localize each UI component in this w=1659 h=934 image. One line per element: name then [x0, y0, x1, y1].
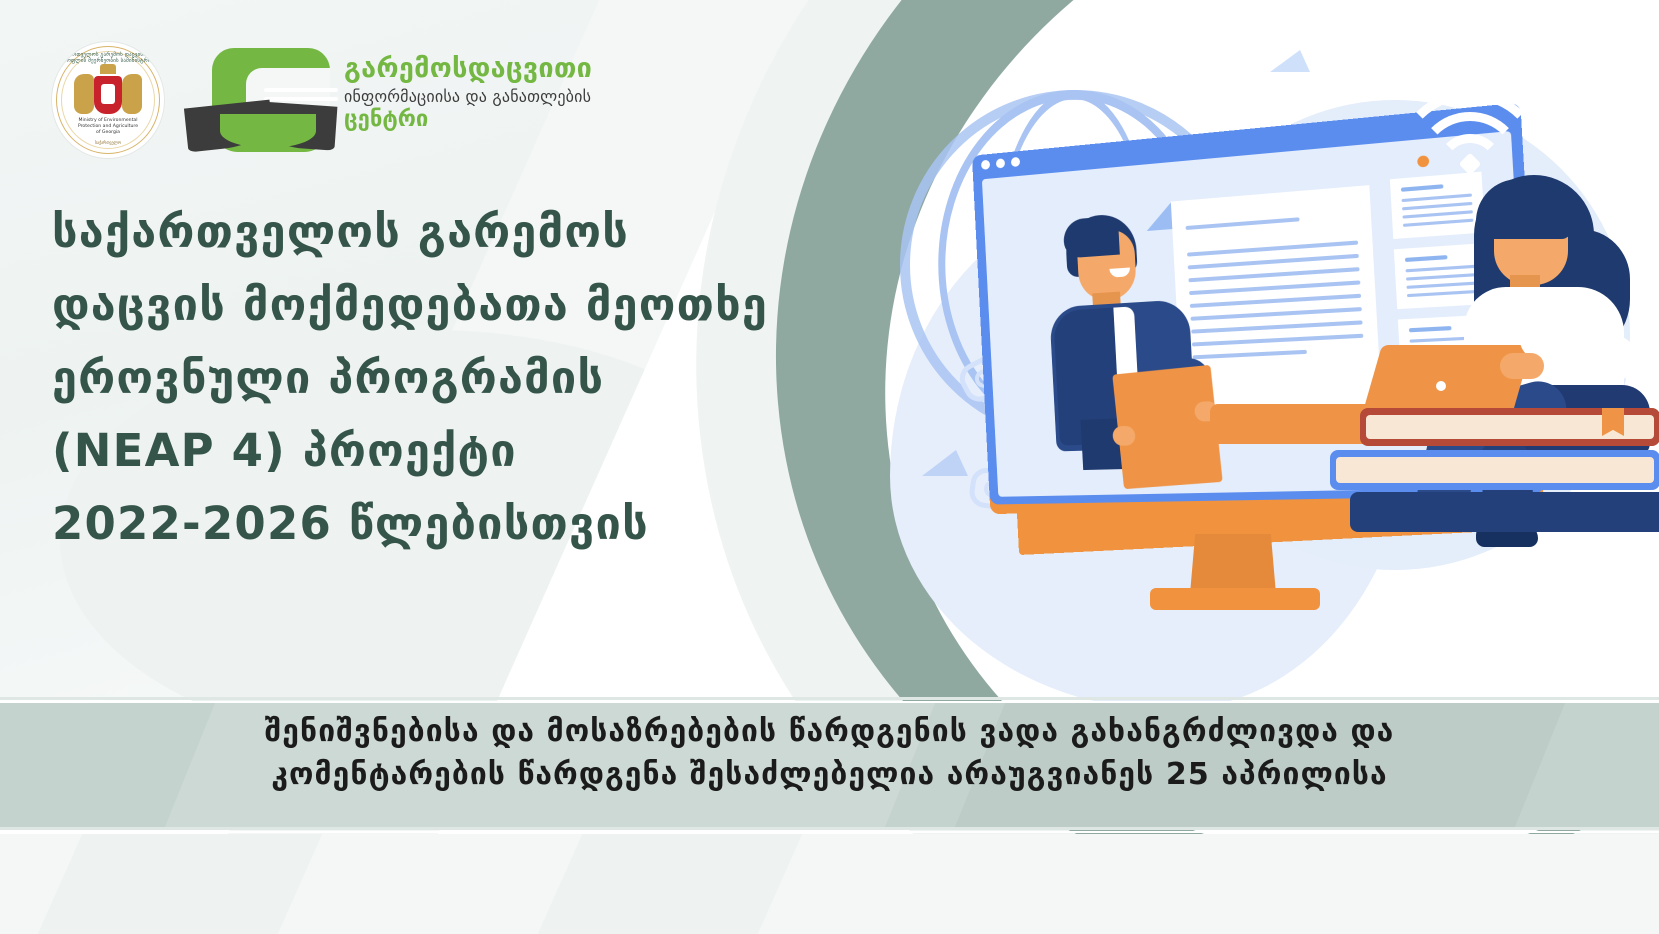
footer-diagonal: [38, 834, 323, 934]
title-line-3: ეროვნული პროგრამის: [52, 342, 772, 415]
document-line: [1190, 307, 1361, 321]
document-line: [1188, 254, 1359, 270]
banner-line-2: კომენტარების წარდგენა შესაძლებელია არაუგ…: [0, 754, 1659, 797]
banner-rule-bottom-inner: [0, 831, 1659, 833]
eiec-book-icon: [212, 48, 330, 152]
document-line: [1192, 334, 1363, 347]
ministry-emblem-icon: საქართველოს გარემოს დაცვისა და სოფლის მე…: [52, 42, 164, 158]
title-line-4: (NEAP 4) პროექტი: [52, 415, 772, 488]
man-holding-folder: [1036, 208, 1207, 460]
footer-diagonal: [538, 834, 803, 934]
paper-plane-icon: [1270, 50, 1310, 72]
banner-rule-bottom: [0, 827, 1659, 830]
banner-text: შენიშვნებისა და მოსაზრებების წარდგენის ვ…: [0, 711, 1659, 796]
banner-rule-top: [0, 697, 1659, 700]
document-line: [1188, 267, 1359, 282]
monitor-neck: [1190, 534, 1276, 594]
deadline-banner: შენიშვნებისა და მოსაზრებების წარდგენის ვ…: [0, 697, 1659, 834]
title-line-2: დაცვის მოქმედებათა მეოთხე: [52, 269, 772, 342]
banner-line-1: შენიშვნებისა და მოსაზრებების წარდგენის ვ…: [0, 711, 1659, 754]
slide-canvas: საქართველოს გარემოს დაცვისა და სოფლის მე…: [0, 0, 1659, 934]
document-line: [1191, 320, 1362, 333]
eiec-line-3: ცენტრი: [344, 108, 634, 132]
monitor-foot: [1150, 588, 1320, 610]
emblem-caption-ka: საქართველო: [52, 140, 164, 145]
document-line: [1189, 280, 1360, 295]
logo-row: საქართველოს გარემოს დაცვისა და სოფლის მე…: [0, 0, 700, 180]
window-dots-icon: [981, 157, 1020, 170]
eiec-logo: გარემოსდაცვითი ინფორმაციისა და განათლები…: [212, 48, 632, 158]
page-title: საქართველოს გარემოს დაცვის მოქმედებათა მ…: [52, 196, 772, 560]
eiec-line-1: გარემოსდაცვითი: [344, 54, 634, 84]
eiec-logo-text: გარემოსდაცვითი ინფორმაციისა და განათლები…: [344, 54, 634, 132]
title-line-1: საქართველოს გარემოს: [52, 196, 772, 269]
illustration: [830, 20, 1659, 700]
document-line: [1190, 294, 1361, 308]
book: [1350, 492, 1659, 532]
title-line-5: 2022-2026 წლებისთვის: [52, 488, 772, 561]
eiec-line-2: ინფორმაციისა და განათლების: [344, 87, 634, 107]
book: [1360, 408, 1659, 446]
banner-rule-top-inner: [0, 701, 1659, 703]
emblem-arc-text: საქართველოს გარემოს დაცვისა და სოფლის მე…: [52, 52, 164, 64]
document-line: [1193, 350, 1307, 360]
emblem-caption-line3: of Georgia: [52, 130, 164, 136]
book: [1330, 450, 1659, 490]
